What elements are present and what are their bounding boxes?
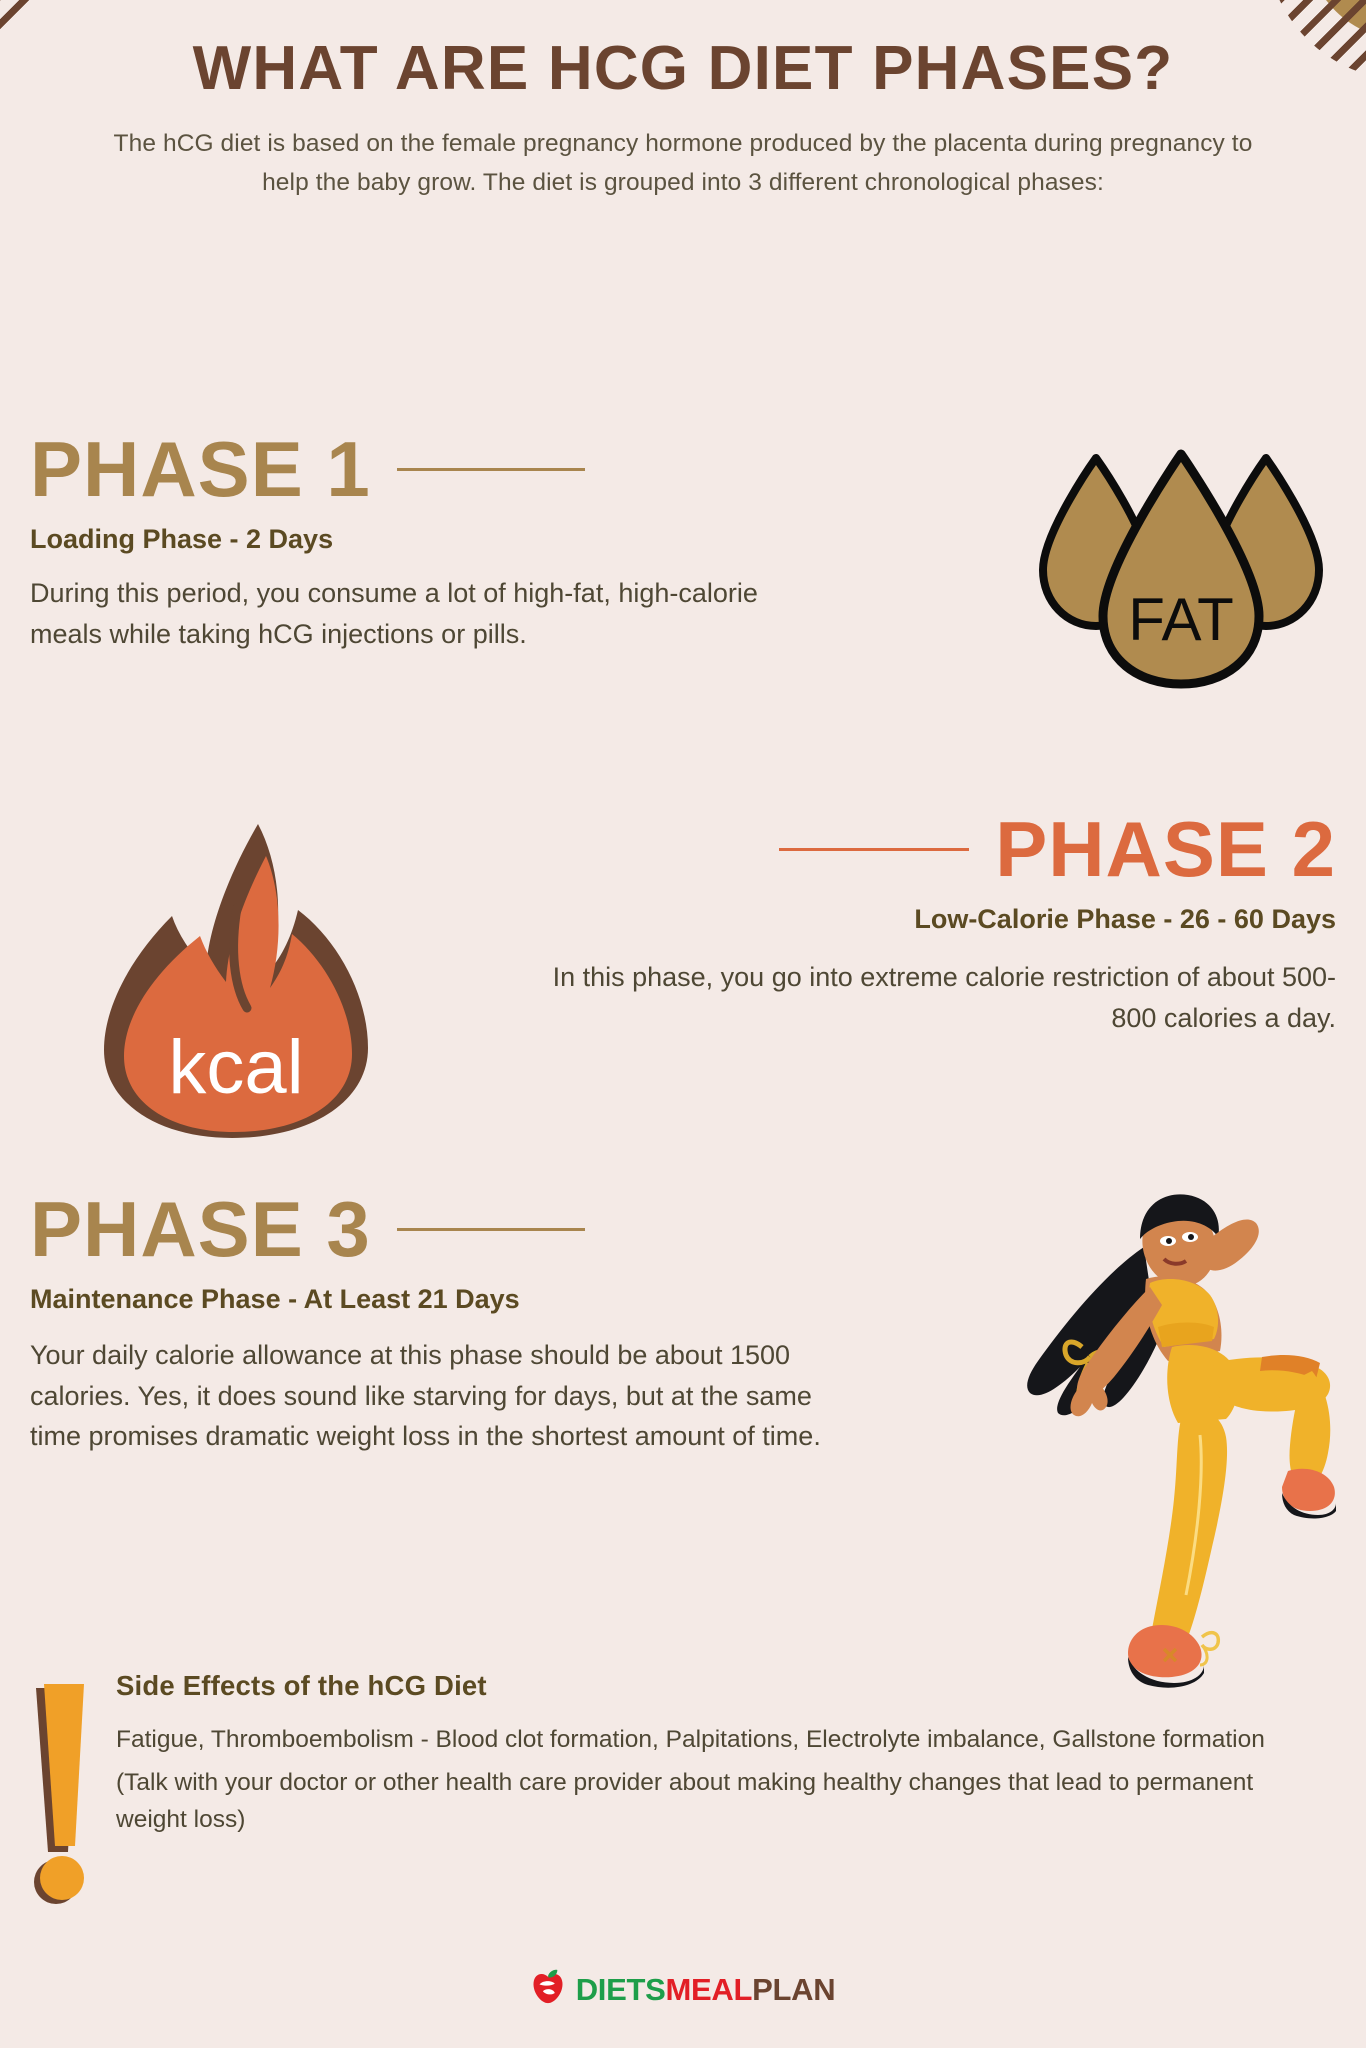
phase-1-section: PHASE 1 Loading Phase - 2 Days During th… — [30, 430, 790, 654]
header: WHAT ARE HCG DIET PHASES? The hCG diet i… — [0, 0, 1366, 203]
page-title: WHAT ARE HCG DIET PHASES? — [0, 34, 1366, 103]
phase-2-section: PHASE 2 Low-Calorie Phase - 26 - 60 Days… — [536, 810, 1336, 1038]
phase-1-body: During this period, you consume a lot of… — [30, 573, 790, 654]
logo-text-meal: MEAL — [665, 1972, 752, 2008]
fat-icon-label: FAT — [1128, 586, 1234, 653]
phase-2-subtitle: Low-Calorie Phase - 26 - 60 Days — [536, 904, 1336, 935]
phase-3-rule — [397, 1228, 585, 1231]
kcal-flame-icon: kcal — [80, 810, 390, 1140]
phase-3-subtitle: Maintenance Phase - At Least 21 Days — [30, 1284, 870, 1315]
shoe-lace-icon — [1200, 1633, 1218, 1665]
side-effects-note: (Talk with your doctor or other health c… — [116, 1764, 1326, 1838]
phase-1-heading: PHASE 1 — [30, 430, 790, 508]
woman-exercising-illustration — [1016, 1175, 1336, 1705]
phase-2-number: PHASE 2 — [995, 810, 1336, 888]
logo-text-diets: DIETS — [576, 1972, 666, 2008]
side-effects-list: Fatigue, Thromboembolism - Blood clot fo… — [116, 1721, 1326, 1758]
exclamation-mark-icon — [28, 1670, 90, 1911]
phase-2-heading: PHASE 2 — [536, 810, 1336, 888]
logo-text-plan: PLAN — [752, 1972, 835, 2008]
phase-3-heading: PHASE 3 — [30, 1190, 870, 1268]
phase-1-subtitle: Loading Phase - 2 Days — [30, 524, 790, 555]
phase-2-body: In this phase, you go into extreme calor… — [536, 957, 1336, 1038]
phase-2-rule — [779, 848, 969, 851]
side-effects-title: Side Effects of the hCG Diet — [116, 1670, 1326, 1702]
kcal-icon-label: kcal — [168, 1025, 303, 1110]
phase-1-rule — [397, 468, 585, 471]
side-effects-content: Side Effects of the hCG Diet Fatigue, Th… — [116, 1670, 1326, 1911]
side-effects-section: Side Effects of the hCG Diet Fatigue, Th… — [28, 1670, 1326, 1911]
phase-3-number: PHASE 3 — [30, 1190, 371, 1268]
fat-droplets-icon: FAT — [1031, 440, 1331, 690]
phase-1-number: PHASE 1 — [30, 430, 371, 508]
footer-logo: DIETSMEALPLAN — [0, 1969, 1366, 2010]
phase-3-body: Your daily calorie allowance at this pha… — [30, 1335, 870, 1457]
logo-wordmark: DIETSMEALPLAN — [576, 1972, 836, 2008]
intro-paragraph: The hCG diet is based on the female preg… — [0, 125, 1366, 202]
apple-logo-icon — [531, 1969, 565, 2010]
phase-3-section: PHASE 3 Maintenance Phase - At Least 21 … — [30, 1190, 870, 1457]
